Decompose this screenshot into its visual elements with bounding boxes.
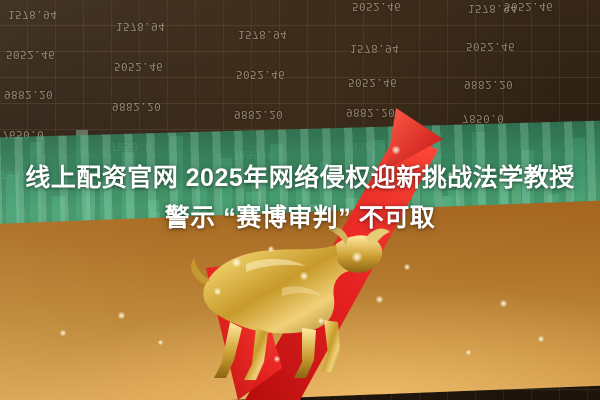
bokeh-dot [318,318,324,324]
bokeh-dot [118,312,125,319]
bokeh-dot [466,350,471,355]
bokeh-dot [352,252,362,262]
bokeh-dot [404,264,410,270]
bokeh-dot [232,258,241,267]
bokeh-dot [60,330,66,336]
bokeh-dot [392,146,400,154]
promo-banner: 1578.945052.469882.207650.07898.101578.9… [0,0,600,400]
bokeh-dot [376,296,383,303]
bokeh-dot [214,288,221,295]
headline-line-2: 警示 “赛博审判” 不可取 [0,198,600,238]
headline: 线上配资官网 2025年网络侵权迎新挑战法学教授 警示 “赛博审判” 不可取 [0,158,600,238]
bokeh-dot [158,340,163,345]
bokeh-dot [538,336,544,342]
bokeh-dot [268,246,274,252]
headline-line-1: 线上配资官网 2025年网络侵权迎新挑战法学教授 [0,158,600,198]
bokeh-dot [500,300,507,307]
bokeh-dot [300,272,308,280]
bokeh-dot [274,356,280,362]
